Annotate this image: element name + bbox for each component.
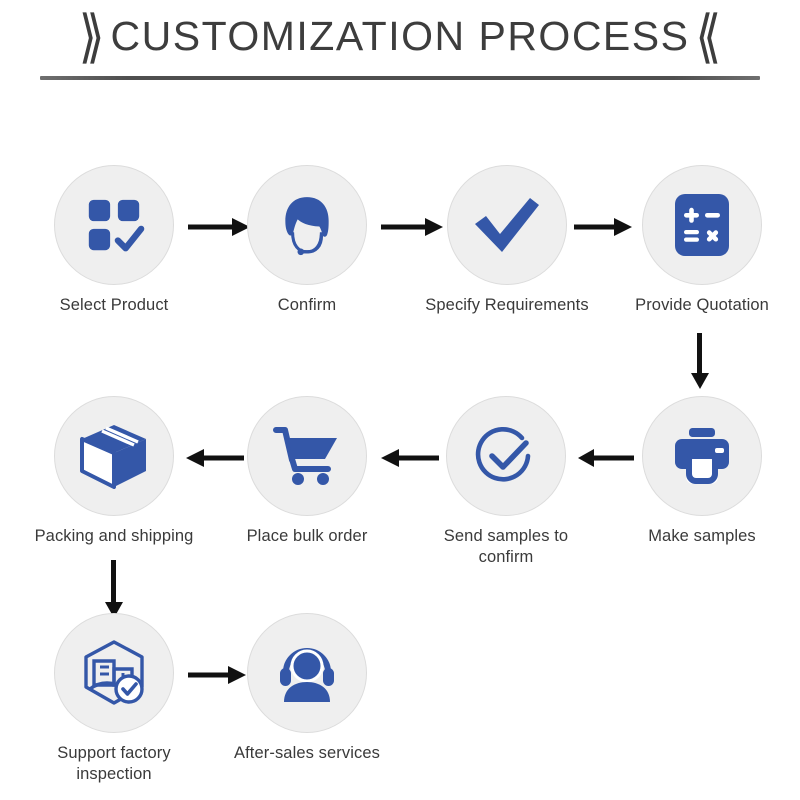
headset-agent-icon <box>274 192 340 258</box>
step-icon-disc <box>247 165 367 285</box>
step-icon-disc <box>54 613 174 733</box>
arrow-step8-to-step9 <box>103 560 125 618</box>
header-divider <box>40 76 760 80</box>
factory-shield-check-icon <box>80 639 148 707</box>
step-label: Select Product <box>29 295 199 316</box>
package-box-icon <box>80 423 148 489</box>
chevron-right-double-icon: ⟫ <box>79 7 105 65</box>
step-label: Make samples <box>617 526 787 547</box>
calculator-icon <box>673 192 731 258</box>
shopping-cart-icon <box>273 425 341 487</box>
checkmark-icon <box>472 194 542 256</box>
step-specify-requirements[interactable]: Specify Requirements <box>422 165 592 316</box>
grid-check-icon <box>83 194 145 256</box>
step-label: Provide Quotation <box>617 295 787 316</box>
step-icon-disc <box>54 165 174 285</box>
step-provide-quotation[interactable]: Provide Quotation <box>617 165 787 316</box>
step-label: After-sales services <box>222 743 392 764</box>
step-place-bulk-order[interactable]: Place bulk order <box>222 396 392 547</box>
step-label: Packing and shipping <box>29 526 199 547</box>
step-packing-and-shipping[interactable]: Packing and shipping <box>29 396 199 547</box>
arrow-step4-to-step5 <box>689 333 711 389</box>
title-row: ⟫ CUSTOMIZATION PROCESS ⟪ <box>0 8 800 64</box>
step-icon-disc <box>247 396 367 516</box>
step-icon-disc <box>642 165 762 285</box>
step-make-samples[interactable]: Make samples <box>617 396 787 547</box>
step-label: Specify Requirements <box>422 295 592 316</box>
step-label: Confirm <box>222 295 392 316</box>
page-header: ⟫ CUSTOMIZATION PROCESS ⟪ <box>0 0 800 95</box>
step-support-factory-inspection[interactable]: Support factory inspection <box>29 613 199 785</box>
circle-check-icon <box>472 422 540 490</box>
step-icon-disc <box>54 396 174 516</box>
page-title: CUSTOMIZATION PROCESS <box>111 13 690 60</box>
step-confirm[interactable]: Confirm <box>222 165 392 316</box>
printer-icon <box>669 426 735 486</box>
step-after-sales-services[interactable]: After-sales services <box>222 613 392 764</box>
step-label: Place bulk order <box>222 526 392 547</box>
headset-person-icon <box>274 642 340 704</box>
step-icon-disc <box>447 165 567 285</box>
step-label: Support factory inspection <box>29 743 199 785</box>
step-icon-disc <box>446 396 566 516</box>
step-icon-disc <box>247 613 367 733</box>
step-send-samples-to-confirm[interactable]: Send samples to confirm <box>421 396 591 568</box>
step-select-product[interactable]: Select Product <box>29 165 199 316</box>
step-icon-disc <box>642 396 762 516</box>
chevron-left-double-icon: ⟪ <box>695 7 721 65</box>
step-label: Send samples to confirm <box>421 526 591 568</box>
